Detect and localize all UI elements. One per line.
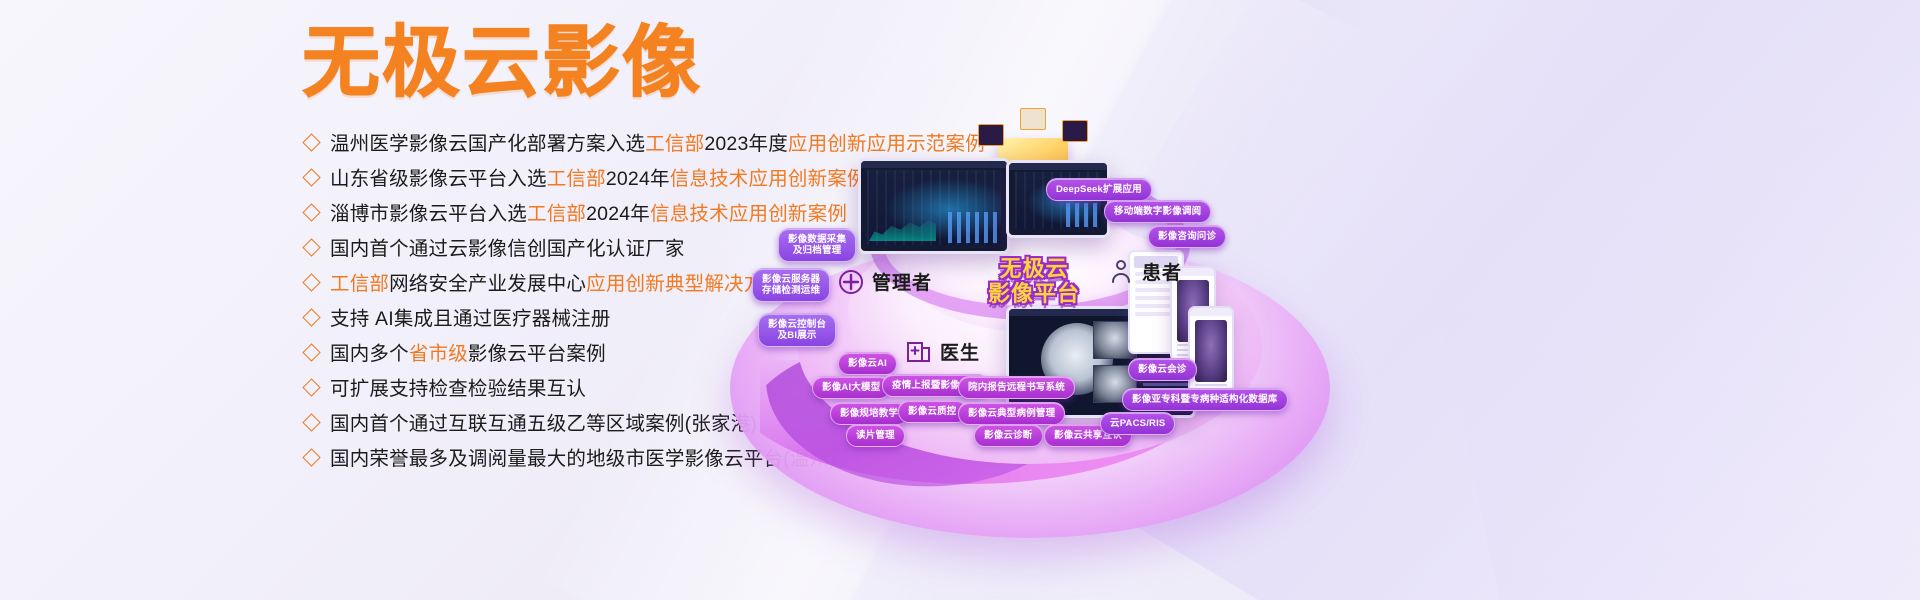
feature-tag-pill: DeepSeek扩展应用 [1046, 178, 1152, 201]
banner-stage: 无极云影像 温州医学影像云国产化部署方案入选工信部2023年度应用创新应用示范案… [0, 0, 1920, 600]
feature-tag-pill: 影像云诊断 [974, 424, 1043, 447]
feature-tag-pill: 影像云控制台及BI展示 [758, 313, 836, 347]
feature-tag-pill: 影像云典型病例管理 [958, 402, 1065, 425]
feature-tag-pill: 影像云会诊 [1128, 358, 1197, 381]
feature-tag-pill: 读片管理 [846, 424, 905, 447]
feature-tag-pill: 影像云质控 [898, 400, 967, 423]
feature-tag-pill: 影像规培教学 [830, 402, 908, 425]
feature-tag-pill: 影像AI大模型 [812, 376, 890, 399]
feature-tag-pill: 影像云服务器存储检测运维 [752, 268, 830, 302]
feature-tag-pill: 影像数据采集及归档管理 [778, 228, 856, 262]
feature-tag-pill: 影像云AI [838, 352, 897, 375]
feature-tag-pill: 院内报告远程书写系统 [958, 376, 1075, 399]
feature-tag-pill: 移动端数字影像调阅 [1104, 200, 1211, 223]
feature-tag-pill: 影像亚专科暨专病种适构化数据库 [1122, 388, 1288, 411]
feature-tag-pill: 云PACS/RIS [1100, 412, 1175, 435]
feature-tag-pill: 影像咨询问诊 [1148, 225, 1226, 248]
tag-pill-layer: 影像数据采集及归档管理影像云服务器存储检测运维影像云控制台及BI展示影像云AI影… [0, 0, 1920, 600]
